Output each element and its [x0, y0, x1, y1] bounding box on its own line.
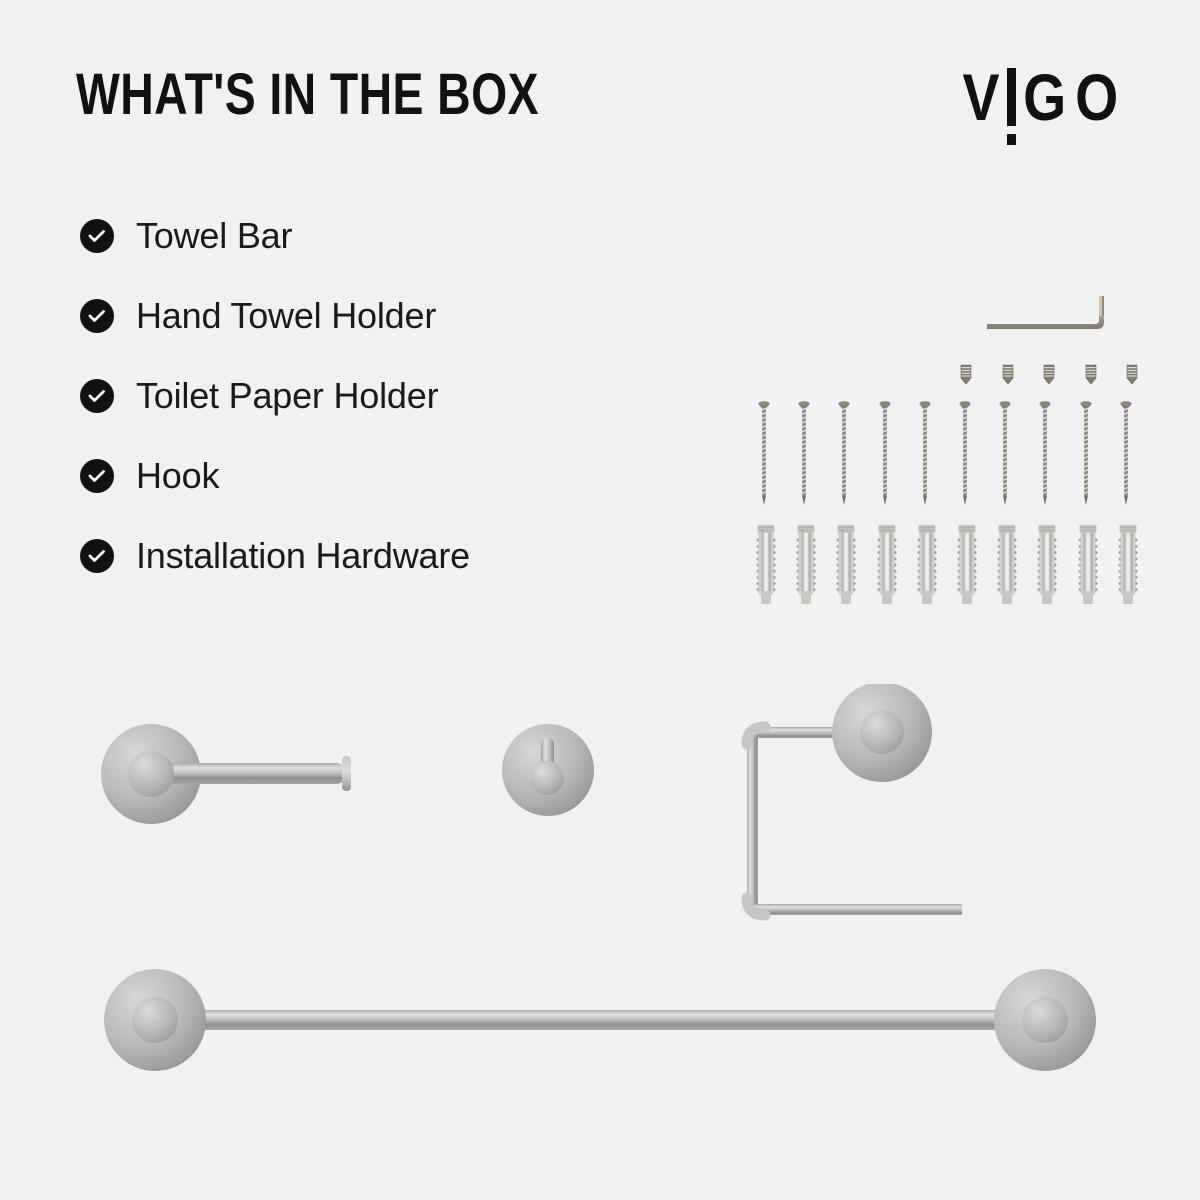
wall-anchor-icon: [877, 522, 897, 615]
wall-anchor-icon: [796, 522, 816, 615]
logo-i-stem: [1007, 68, 1016, 126]
infographic-canvas: WHAT'S IN THE BOX V G O Towel BarHand To…: [0, 0, 1200, 1200]
list-item-label: Hand Towel Holder: [136, 295, 436, 337]
logo-letter-o: O: [1075, 64, 1118, 130]
list-item-label: Towel Bar: [136, 215, 292, 257]
wood-screw-icon: [919, 392, 931, 515]
whats-in-the-box-list: Towel BarHand Towel HolderToilet Paper H…: [80, 196, 680, 596]
check-circle-icon: [80, 299, 114, 333]
list-item: Installation Hardware: [80, 516, 680, 596]
check-circle-icon: [80, 539, 114, 573]
wood-screw-icon: [1080, 392, 1092, 515]
list-item: Hand Towel Holder: [80, 276, 680, 356]
wood-screw-icon: [758, 392, 770, 515]
hook: [498, 718, 598, 818]
wall-anchor-icon: [957, 522, 977, 615]
set-screw-icon: [1124, 364, 1140, 391]
wood-screw-icon: [879, 392, 891, 515]
set-screw-icon: [1083, 364, 1099, 391]
list-item: Towel Bar: [80, 196, 680, 276]
wall-anchor-icon: [997, 522, 1017, 615]
list-item-label: Toilet Paper Holder: [136, 375, 438, 417]
wall-anchor-icon: [917, 522, 937, 615]
set-screw-icon: [958, 364, 974, 391]
logo-i-dot: [1007, 134, 1016, 145]
wood-screw-icon: [1039, 392, 1051, 515]
wall-anchor-icon: [1118, 522, 1138, 615]
wood-screw-icon: [838, 392, 850, 515]
list-item: Hook: [80, 436, 680, 516]
check-circle-icon: [80, 459, 114, 493]
hand-towel-holder: [722, 684, 962, 944]
wood-screw-icon: [999, 392, 1011, 515]
wood-screw-icon: [798, 392, 810, 515]
list-item-label: Installation Hardware: [136, 535, 470, 577]
check-circle-icon: [80, 219, 114, 253]
wall-anchor-icon: [1037, 522, 1057, 615]
vigo-brand-logo: V G O: [959, 64, 1122, 134]
list-item: Toilet Paper Holder: [80, 356, 680, 436]
toilet-paper-holder: [96, 722, 371, 827]
wall-anchor-icon: [1078, 522, 1098, 615]
list-item-label: Hook: [136, 455, 219, 497]
logo-letter-v: V: [963, 64, 1000, 130]
allen-key-icon: [985, 296, 1115, 336]
set-screw-icon: [1041, 364, 1057, 391]
wood-screw-icon: [1120, 392, 1132, 515]
set-screw-icon: [1000, 364, 1016, 391]
page-title: WHAT'S IN THE BOX: [76, 66, 539, 124]
wall-anchor-icon: [836, 522, 856, 615]
towel-bar: [100, 966, 1100, 1074]
logo-letter-g: G: [1023, 64, 1066, 130]
check-circle-icon: [80, 379, 114, 413]
wall-anchor-icon: [756, 522, 776, 615]
wood-screw-icon: [959, 392, 971, 515]
